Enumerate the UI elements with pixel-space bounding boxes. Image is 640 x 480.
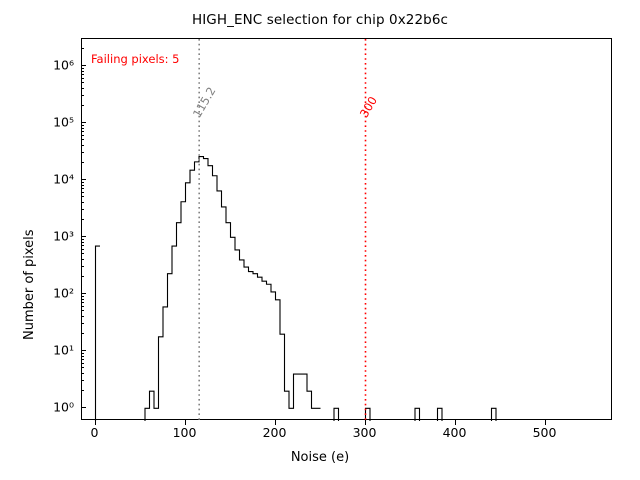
y-tick-label: 10⁴ — [53, 172, 74, 187]
y-tick-label: 10³ — [53, 229, 74, 244]
plot-area — [81, 38, 612, 420]
failing-pixels-annotation: Failing pixels: 5 — [91, 52, 180, 66]
x-tick-label: 300 — [353, 425, 377, 440]
histogram-svg — [82, 39, 613, 421]
y-tick-label-group: 10⁰10¹10²10³10⁴10⁵10⁶ — [0, 0, 74, 480]
x-tick-label: 200 — [263, 425, 287, 440]
y-tick-label: 10¹ — [53, 343, 74, 358]
vertical-line-group — [199, 39, 365, 421]
chart-figure: HIGH_ENC selection for chip 0x22b6c Numb… — [0, 0, 640, 480]
x-tick-label: 0 — [91, 425, 99, 440]
x-tick-label: 500 — [533, 425, 557, 440]
y-tick-label: 10⁰ — [53, 400, 74, 415]
page-title: HIGH_ENC selection for chip 0x22b6c — [0, 12, 640, 28]
y-tick-label: 10² — [53, 286, 74, 301]
x-tick-label: 100 — [173, 425, 197, 440]
histogram-step-line — [96, 157, 497, 421]
x-tick-label: 400 — [443, 425, 467, 440]
x-axis-label: Noise (e) — [0, 450, 640, 465]
y-tick-label: 10⁶ — [53, 58, 74, 73]
y-tick-label: 10⁵ — [53, 115, 74, 130]
